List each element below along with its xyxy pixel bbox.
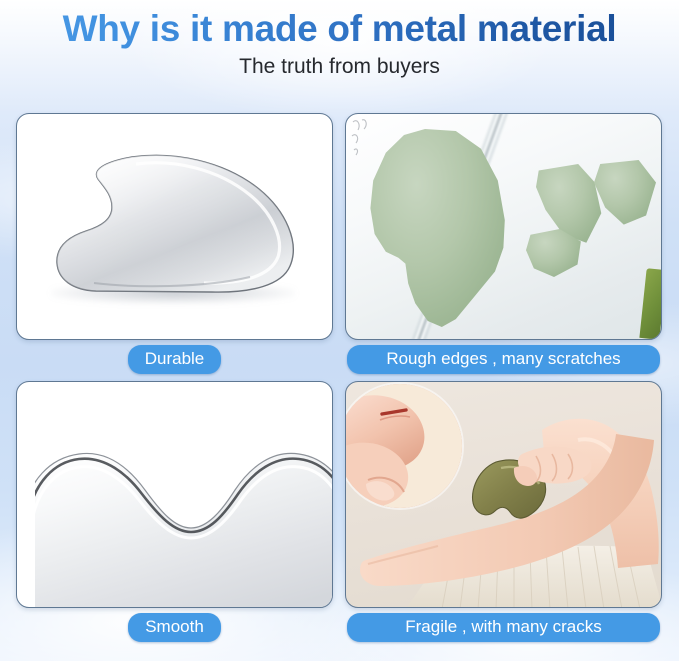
product-infographic: Why is it made of metal material The tru… [0,0,679,661]
badge-container-durable: Durable [16,345,333,374]
comparison-cell-metal-smooth: Smooth [16,381,333,608]
image-panel-broken-jade [345,113,662,340]
image-panel-metal-tool [16,113,333,340]
status-badge-durable: Durable [128,345,222,374]
status-badge-smooth: Smooth [128,613,221,642]
handwriting-marks-icon [350,116,376,162]
badge-container-smooth: Smooth [16,613,333,642]
comparison-cell-jade-fragile: Fragile , with many cracks [345,381,662,608]
infographic-header: Why is it made of metal material The tru… [0,0,679,78]
status-badge-rough-edges: Rough edges , many scratches [347,345,660,374]
page-title: Why is it made of metal material [0,0,679,49]
comparison-cell-metal-durable: Durable [16,113,333,340]
comparison-row-bottom: Smooth [0,381,679,649]
image-panel-metal-edge-macro [16,381,333,608]
comparison-grid: Durable Rough edges , many scra [0,113,679,649]
badge-container-rough-edges: Rough edges , many scratches [345,345,662,374]
jade-fragment-upper-right [594,160,656,226]
badge-container-fragile: Fragile , with many cracks [345,613,662,642]
comparison-cell-jade-rough: Rough edges , many scratches [345,113,662,340]
comparison-row-top: Durable Rough edges , many scra [0,113,679,381]
page-subtitle: The truth from buyers [0,49,679,78]
image-panel-jade-on-leg [345,381,662,608]
metal-gua-sha-illustration [54,151,304,296]
metal-edge-macro-illustration [35,424,333,608]
status-badge-fragile: Fragile , with many cracks [347,613,660,642]
green-object-edge [639,268,662,340]
